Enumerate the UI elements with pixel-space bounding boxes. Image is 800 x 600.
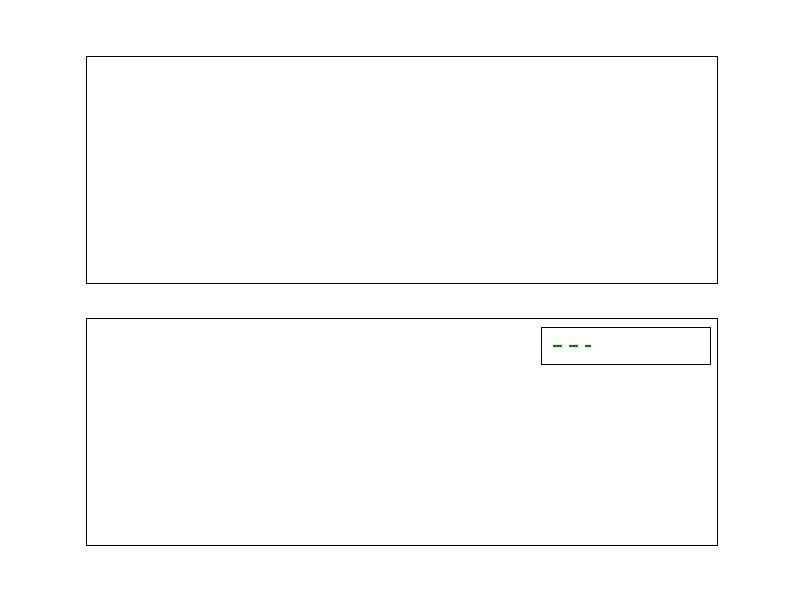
top-panel-ytick-labels <box>14 56 80 284</box>
top-panel-xtick-labels <box>86 284 718 308</box>
matplotlib-figure <box>0 0 800 600</box>
mag-limit-legend-swatch <box>552 340 592 352</box>
legend-box <box>541 327 711 365</box>
bottom-panel-xtick-labels <box>86 546 718 570</box>
top-histogram-plot <box>87 57 717 283</box>
bottom-panel-ytick-labels <box>14 318 80 546</box>
top-histogram-axes <box>86 56 718 284</box>
